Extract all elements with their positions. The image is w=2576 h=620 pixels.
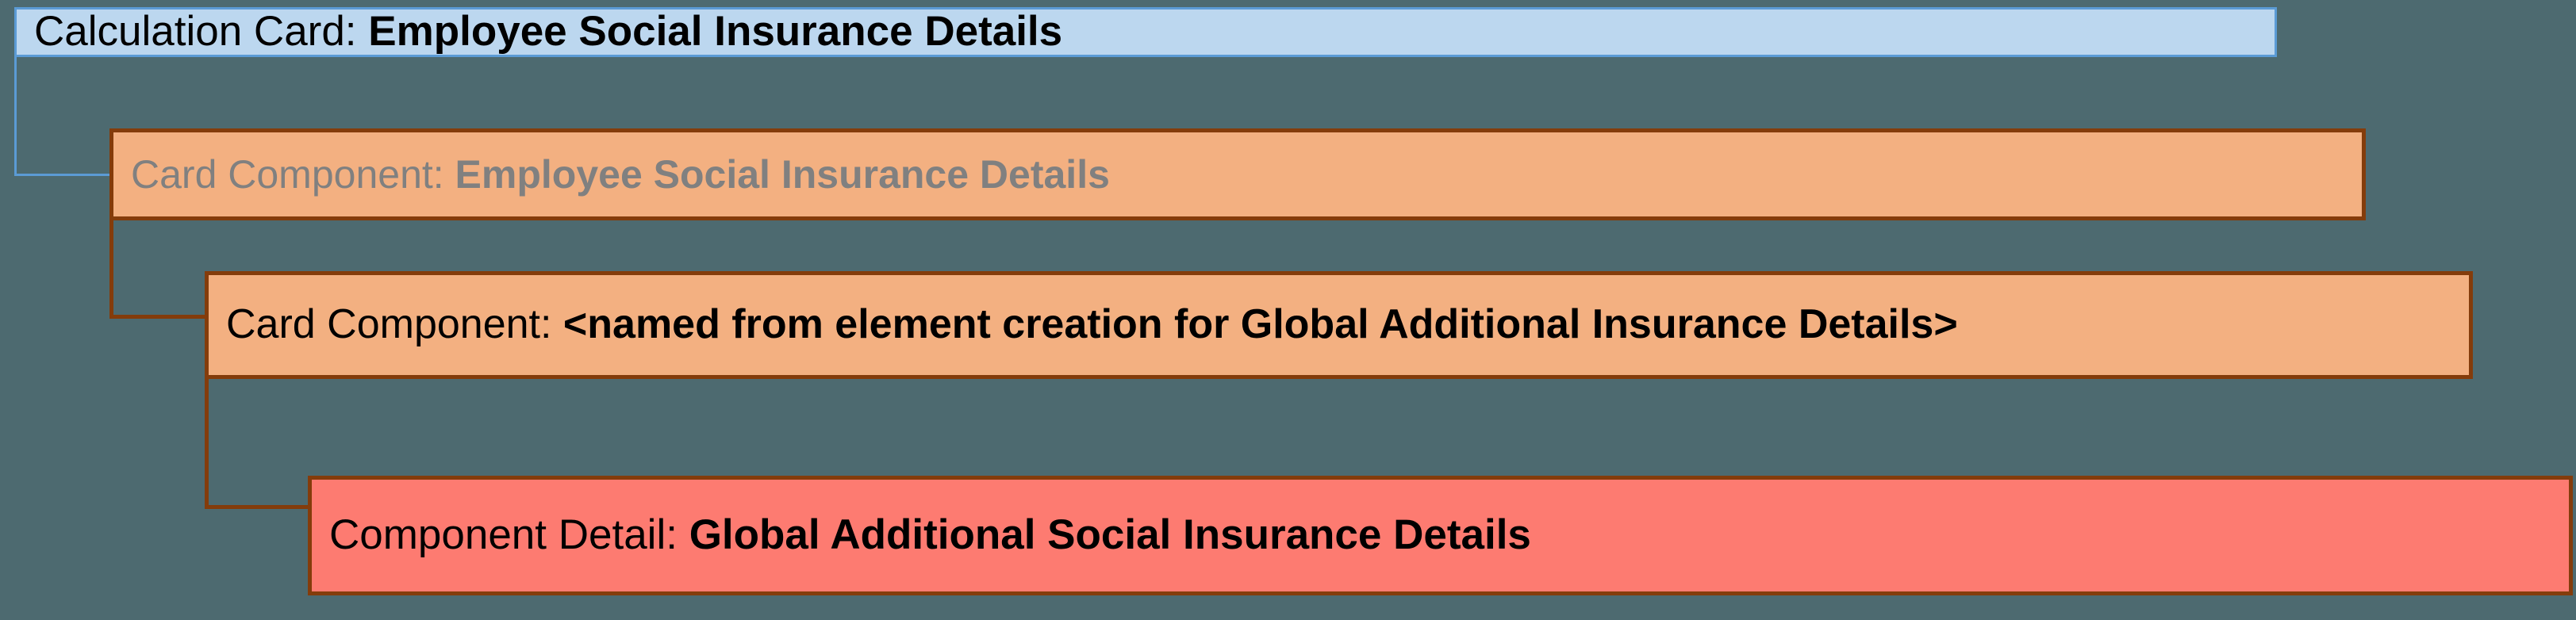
connector-horizontal-segment bbox=[109, 315, 209, 319]
node-calculation-card-name: Employee Social Insurance Details bbox=[368, 8, 1062, 55]
node-calculation-card-label: Calculation Card: Employee Social Insura… bbox=[17, 7, 2275, 57]
connector-vertical-segment bbox=[109, 217, 113, 319]
connector-card-component-2-to-component-detail bbox=[205, 376, 312, 509]
node-calculation-card: Calculation Card: Employee Social Insura… bbox=[14, 7, 2277, 57]
node-component-detail-name: Global Additional Social Insurance Detai… bbox=[689, 511, 1531, 558]
node-calculation-card-prefix: Calculation Card: bbox=[34, 8, 368, 55]
connector-horizontal-segment bbox=[14, 174, 112, 176]
connector-card-component-1-to-card-component-2 bbox=[109, 217, 209, 319]
connector-vertical-segment bbox=[14, 55, 17, 176]
node-component-detail-prefix: Component Detail: bbox=[329, 511, 689, 558]
diagram-canvas: Calculation Card: Employee Social Insura… bbox=[0, 0, 2576, 620]
node-card-component-2-label: Card Component: <named from element crea… bbox=[209, 301, 2469, 349]
node-component-detail-global-additional-social-insurance-details: Component Detail: Global Additional Soci… bbox=[308, 476, 2573, 595]
node-card-component-1-name: Employee Social Insurance Details bbox=[455, 152, 1110, 197]
node-card-component-employee-social-insurance-details: Card Component: Employee Social Insuranc… bbox=[109, 128, 2366, 220]
node-card-component-named-from-element-creation: Card Component: <named from element crea… bbox=[205, 271, 2473, 379]
node-card-component-2-name: <named from element creation for Global … bbox=[563, 301, 1958, 347]
connector-horizontal-segment bbox=[205, 505, 312, 509]
node-card-component-1-label: Card Component: Employee Social Insuranc… bbox=[113, 151, 2362, 198]
connector-vertical-segment bbox=[205, 376, 209, 509]
node-card-component-2-prefix: Card Component: bbox=[226, 301, 563, 347]
connector-calculation-card-to-card-component-1 bbox=[14, 55, 112, 176]
node-component-detail-label: Component Detail: Global Additional Soci… bbox=[312, 511, 2569, 561]
node-card-component-1-prefix: Card Component: bbox=[131, 152, 455, 197]
